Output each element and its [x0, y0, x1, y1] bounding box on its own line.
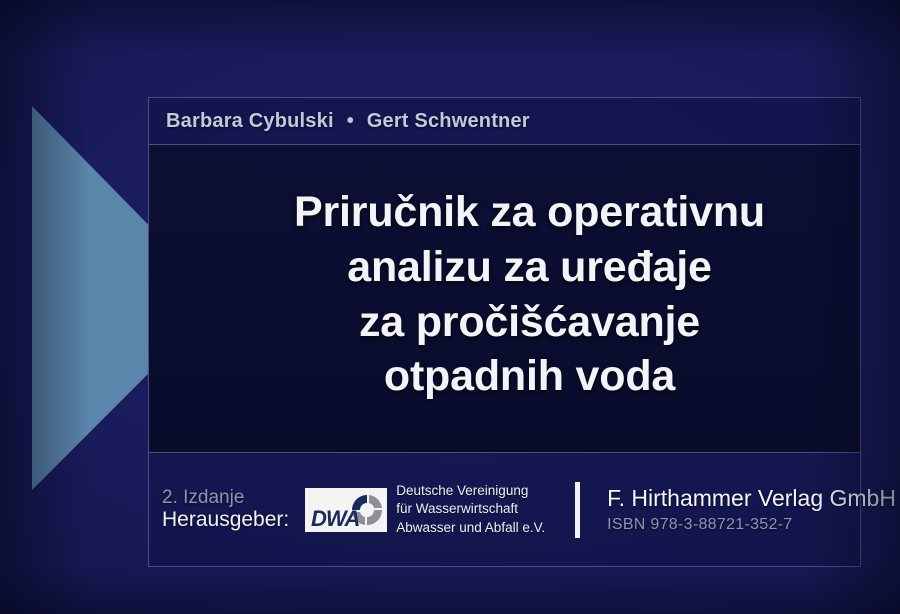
herausgeber-label: Herausgeber:: [162, 508, 289, 532]
cover-panel: Barbara Cybulski • Gert Schwentner Priru…: [148, 97, 861, 567]
title-line-3: za pročišćavanje: [294, 295, 765, 350]
title-line-4: otpadnih voda: [294, 349, 765, 404]
association-line-1: Deutsche Vereinigung: [396, 482, 545, 500]
author-separator: •: [334, 110, 367, 133]
title-area: Priručnik za operativnu analizu za uređa…: [149, 145, 860, 453]
footer-band: 2. Izdanje Herausgeber: DWA De: [149, 453, 860, 566]
imprint-block: F. Hirthammer Verlag GmbH ISBN 978-3-887…: [607, 484, 896, 536]
association-name: Deutsche Vereinigung für Wasserwirtschaf…: [396, 482, 545, 537]
book-cover: Barbara Cybulski • Gert Schwentner Priru…: [0, 0, 900, 614]
svg-text:DWA: DWA: [311, 506, 359, 531]
footer-divider: [575, 482, 580, 538]
title-line-2: analizu za uređaje: [294, 240, 765, 295]
edition-label: 2. Izdanje: [162, 487, 289, 508]
dwa-logo-icon: DWA: [305, 488, 387, 532]
author-name-first: Barbara Cybulski: [166, 110, 334, 133]
book-title: Priručnik za operativnu analizu za uređa…: [224, 185, 785, 411]
authors-band: Barbara Cybulski • Gert Schwentner: [149, 98, 860, 145]
author-name-second: Gert Schwentner: [367, 110, 530, 133]
association-line-2: für Wasserwirtschaft: [396, 500, 545, 518]
isbn-number: ISBN 978-3-88721-352-7: [607, 515, 896, 535]
publisher-name: F. Hirthammer Verlag GmbH: [607, 484, 896, 513]
title-line-1: Priručnik za operativnu: [294, 185, 765, 240]
edition-block: 2. Izdanje Herausgeber:: [162, 487, 305, 532]
association-line-3: Abwasser und Abfall e.V.: [396, 519, 545, 537]
